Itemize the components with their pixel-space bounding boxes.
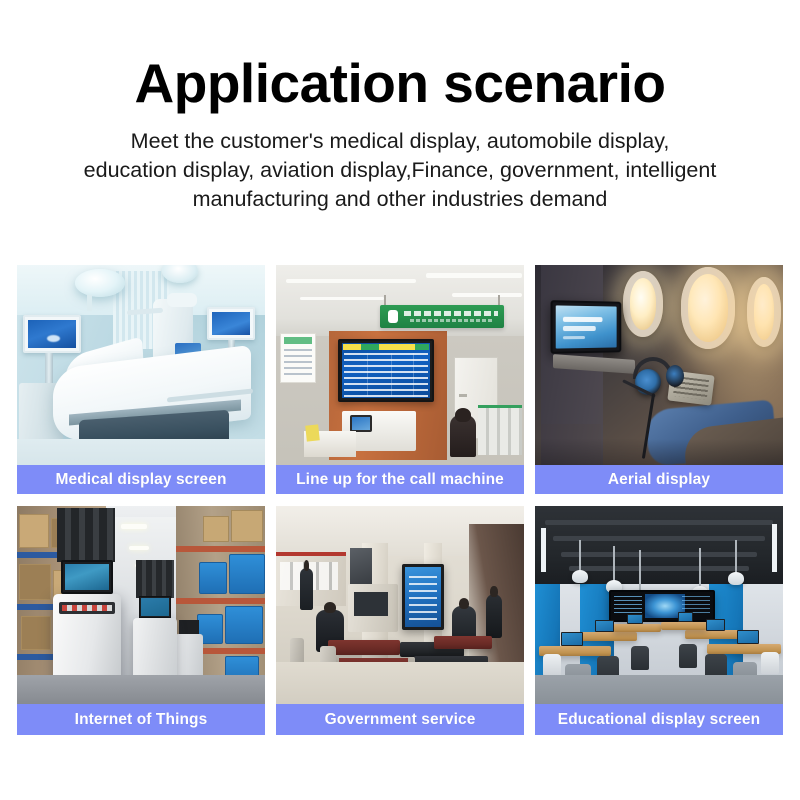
bench-1	[328, 640, 400, 655]
desk-monitor-1	[561, 632, 583, 646]
bench-3	[434, 636, 492, 649]
scenario-tile-iot[interactable]: Internet of Things	[17, 506, 265, 735]
queue-scene-image	[276, 265, 524, 494]
scenario-caption-education: Educational display screen	[535, 704, 783, 735]
wall-poster	[280, 333, 316, 383]
desk-monitor-4	[737, 630, 759, 644]
department-sign	[380, 305, 504, 328]
desk-monitor-5	[706, 619, 725, 631]
desk-monitor-3	[627, 614, 643, 624]
inflight-entertainment-screen	[551, 300, 622, 354]
scenario-caption-iot: Internet of Things	[17, 704, 265, 735]
medical-monitor-left	[23, 315, 81, 353]
self-service-machine	[348, 584, 398, 632]
medical-monitor-right	[207, 307, 255, 340]
desk-monitor-2	[595, 620, 614, 632]
waiting-chairs	[478, 405, 522, 455]
scenario-caption-queue: Line up for the call machine	[276, 465, 524, 494]
page-title: Application scenario	[0, 55, 800, 113]
queue-display-board	[338, 339, 434, 402]
information-kiosk-display	[402, 564, 444, 630]
subtitle-line-1: Meet the customer's medical display, aut…	[14, 127, 786, 156]
desk-monitor-6	[678, 612, 693, 622]
page-header: Application scenario Meet the customer's…	[0, 0, 800, 214]
scenario-caption-aerial: Aerial display	[535, 465, 783, 494]
scenario-caption-medical: Medical display screen	[17, 465, 265, 494]
person-standing	[300, 568, 313, 610]
classroom-led-wall-display	[609, 590, 715, 622]
iot-scene-image	[17, 506, 265, 735]
scenario-tile-queue[interactable]: Line up for the call machine	[276, 265, 524, 494]
education-scene-image	[535, 506, 783, 735]
scenario-gallery-grid: Medical display screen	[17, 265, 783, 735]
page-subtitle: Meet the customer's medical display, aut…	[0, 127, 800, 215]
surgical-light-icon	[75, 269, 125, 297]
government-scene-image	[276, 506, 524, 735]
aerial-scene-image	[535, 265, 783, 494]
subtitle-line-3: manufacturing and other industries deman…	[14, 185, 786, 214]
application-scenario-page: Application scenario Meet the customer's…	[0, 0, 800, 800]
scenario-tile-aerial[interactable]: Aerial display	[535, 265, 783, 494]
subtitle-line-2: education display, aviation display,Fina…	[14, 156, 786, 185]
call-machine-kiosk	[350, 415, 372, 432]
person-walking	[486, 594, 502, 638]
seated-person	[450, 415, 476, 457]
medical-scene-image	[17, 265, 265, 494]
scenario-caption-government: Government service	[276, 704, 524, 735]
scenario-tile-education[interactable]: Educational display screen	[535, 506, 783, 735]
scenario-tile-medical[interactable]: Medical display screen	[17, 265, 265, 494]
scenario-tile-government[interactable]: Government service	[276, 506, 524, 735]
